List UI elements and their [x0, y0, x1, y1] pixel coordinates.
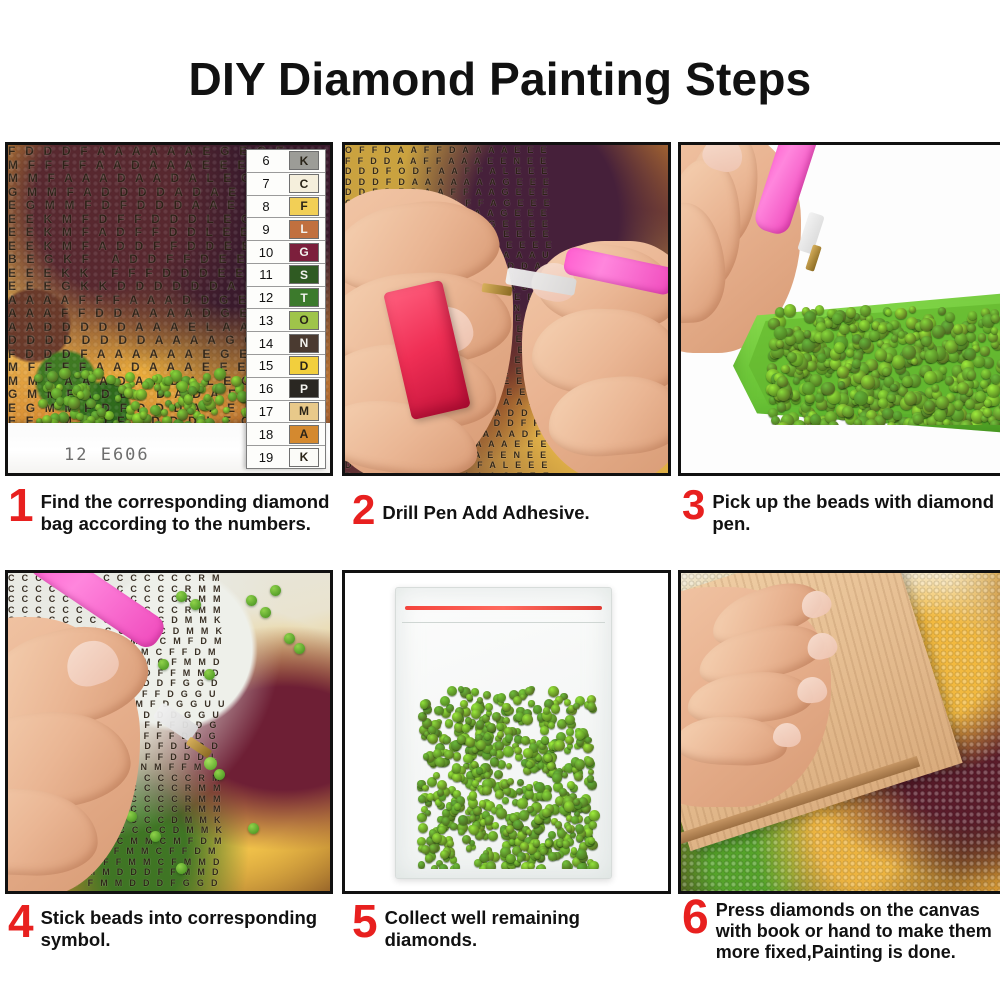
diamond-bead: [804, 330, 812, 338]
diamond-bead: [447, 840, 454, 847]
diamond-bead: [104, 411, 113, 420]
diamond-bead: [164, 391, 170, 397]
diamond-bead: [450, 823, 458, 831]
diamond-bead: [551, 704, 560, 713]
diamond-bead: [574, 772, 583, 781]
color-chart-row: 13O: [247, 309, 325, 332]
diamond-bead: [528, 863, 535, 869]
color-chart-row: 12T: [247, 287, 325, 310]
diamond-bead: [433, 772, 440, 779]
diamond-bead: [97, 408, 106, 417]
color-chart-symbol: T: [289, 288, 319, 307]
diamond-bead: [548, 852, 557, 861]
color-chart-symbol: F: [289, 197, 319, 216]
diamond-bead: [497, 693, 506, 702]
diamond-bead: [968, 311, 977, 320]
diamond-bead: [460, 700, 468, 708]
diamond-bead: [834, 342, 845, 353]
diamond-bead: [469, 825, 479, 835]
diamond-bead: [223, 407, 229, 413]
color-chart-number: 11: [247, 267, 285, 282]
diamond-bead: [484, 733, 491, 740]
diamond-bead: [566, 825, 573, 832]
diamond-bead: [846, 307, 857, 318]
diamond-bead: [882, 408, 894, 420]
diamond-bead: [506, 825, 514, 833]
diamond-bead: [548, 686, 559, 697]
diamond-bead: [482, 786, 492, 796]
diamond-bead: [485, 703, 494, 712]
diamond-bead: [514, 747, 521, 754]
diamond-bead: [517, 798, 528, 809]
step-text: Pick up the beads with diamond pen.: [712, 487, 1000, 535]
placed-bead: [248, 823, 259, 834]
step-5-caption: 5 Collect well remaining diamonds.: [352, 903, 672, 951]
diamond-bead: [506, 854, 515, 863]
diamond-bead: [913, 414, 923, 424]
step-number: 6: [682, 898, 709, 938]
diamond-bead: [805, 393, 815, 403]
diamond-bead: [924, 371, 937, 384]
diamond-bead: [525, 687, 534, 696]
diamond-bead: [534, 852, 541, 859]
diamond-bead: [839, 324, 850, 335]
step-number: 2: [352, 492, 375, 528]
diamond-bead: [429, 844, 438, 853]
diamond-bead: [936, 396, 949, 409]
bag-label-code: 12 E606: [64, 445, 150, 465]
diamond-bead: [420, 700, 429, 709]
diamond-bead: [447, 686, 458, 697]
diamond-bead: [505, 734, 514, 743]
beads-in-tray: [743, 299, 1000, 425]
placed-bead: [150, 831, 161, 842]
diamond-bead: [431, 865, 438, 869]
placed-bead: [214, 769, 225, 780]
diamond-bead: [566, 728, 574, 736]
diamond-bead: [452, 773, 462, 783]
diamond-bead: [458, 829, 465, 836]
diamond-bead: [503, 746, 514, 757]
step-text: Drill Pen Add Adhesive.: [382, 492, 589, 524]
step-1-image: F D D D F A A A A A A E G E G E M F F F …: [5, 142, 333, 476]
diamond-bead: [188, 386, 197, 395]
diamond-bead: [552, 773, 562, 783]
diamond-bead: [472, 780, 479, 787]
diamond-bead: [583, 743, 593, 753]
diamond-bead: [573, 703, 580, 710]
step-2-image: O F F D A A F F D A A A A E E E F F D D …: [342, 142, 671, 476]
diamond-bead: [466, 845, 473, 852]
placed-bead: [158, 659, 169, 670]
color-chart-row: 19K: [247, 446, 325, 468]
diamond-bead: [890, 384, 898, 392]
diamond-bead: [943, 419, 950, 425]
diamond-bead: [932, 325, 945, 338]
step-text: Stick beads into corresponding symbol.: [41, 903, 333, 951]
diamond-bead: [545, 840, 552, 847]
diamond-bead: [487, 723, 496, 732]
color-chart-symbol: N: [289, 334, 319, 353]
color-chart-symbol: K: [289, 151, 319, 170]
diamond-bead: [562, 772, 568, 778]
diamond-bead: [507, 778, 515, 786]
color-chart-row: 6K: [247, 150, 325, 173]
color-chart-row: 14N: [247, 332, 325, 355]
diamond-bead: [214, 368, 226, 380]
diamond-bead: [517, 779, 525, 787]
diamond-bead: [526, 761, 533, 768]
diamond-bead: [506, 763, 512, 769]
zip-seal-line: [402, 622, 604, 623]
diamond-bead: [164, 376, 174, 386]
diamond-bead: [575, 824, 584, 833]
diamond-bead: [56, 397, 64, 405]
diamond-bead: [462, 724, 471, 733]
diamond-bead: [978, 333, 986, 341]
diamond-bead: [517, 856, 523, 862]
diamond-bead: [484, 772, 491, 779]
diamond-bead: [991, 327, 998, 334]
step-3-caption: 3 Pick up the beads with diamond pen.: [682, 487, 1000, 535]
diamond-bead: [875, 349, 887, 361]
diamond-bead: [443, 736, 451, 744]
diamond-bead: [88, 374, 96, 382]
diamond-bead: [909, 306, 916, 313]
diamond-bead: [860, 305, 871, 316]
diamond-bead: [177, 381, 188, 392]
diamond-bead: [793, 377, 800, 384]
diamond-bead: [571, 847, 578, 854]
diamond-bead: [544, 754, 552, 762]
color-chart-symbol: A: [289, 425, 319, 444]
diamond-bead: [777, 402, 786, 411]
diamond-bead: [902, 345, 916, 359]
diamond-bead: [887, 422, 896, 425]
diamond-bead: [496, 723, 503, 730]
diamond-bead: [570, 832, 576, 838]
diamond-bead: [161, 409, 167, 415]
diamond-bead: [231, 376, 241, 386]
diamond-bead: [427, 793, 434, 800]
diamond-bead: [454, 803, 461, 810]
color-chart-symbol: C: [289, 174, 319, 193]
diamond-bead: [446, 804, 452, 810]
step-number: 3: [682, 487, 705, 523]
diamond-bead: [567, 781, 575, 789]
diamond-bead: [425, 854, 434, 863]
diamond-bead: [136, 389, 147, 400]
diamond-bead: [469, 791, 478, 800]
diamond-bead: [542, 791, 552, 801]
diamond-bead: [887, 394, 896, 403]
color-chart-row: 8F: [247, 196, 325, 219]
diamond-bead: [418, 795, 426, 803]
color-chart-symbol: G: [289, 243, 319, 262]
color-chart-number: 7: [247, 176, 285, 191]
diamond-bead: [519, 810, 529, 820]
diamond-bead: [476, 767, 483, 774]
diamond-bead: [562, 860, 572, 869]
diamond-bead: [59, 368, 71, 380]
diamond-bead: [554, 740, 565, 751]
diamond-bead: [496, 808, 507, 819]
color-chart-number: 15: [247, 358, 285, 373]
bead-on-pen-tip: [204, 757, 217, 770]
diamond-bead: [991, 374, 1000, 384]
diamond-bead: [777, 376, 788, 387]
diamond-bead: [502, 703, 511, 712]
step-number: 5: [352, 903, 378, 939]
diamond-bead: [466, 694, 472, 700]
diamond-bead: [967, 324, 976, 333]
diamond-bead: [925, 349, 939, 363]
diamond-bead: [817, 353, 826, 362]
diamond-bead: [47, 371, 58, 382]
diamond-bead: [980, 346, 990, 356]
diamond-bead: [434, 706, 444, 716]
placed-bead: [294, 643, 305, 654]
diamond-bead: [140, 411, 147, 418]
diamond-bead: [852, 359, 861, 368]
diamond-bead: [565, 715, 575, 725]
diamond-bead: [565, 736, 574, 745]
diamond-bead: [878, 324, 887, 333]
diamond-bead: [440, 850, 449, 859]
diamond-bead: [964, 348, 976, 360]
diamond-bead: [537, 864, 546, 870]
diamond-bead: [418, 823, 429, 834]
diamond-bead: [502, 797, 509, 804]
diamond-bead: [228, 392, 237, 401]
diamond-bead: [425, 810, 431, 816]
diamond-bead: [477, 697, 483, 703]
diamond-bead: [150, 405, 160, 415]
diamond-bead: [34, 374, 43, 383]
diamond-bead: [488, 831, 498, 841]
color-chart-row: 16P: [247, 378, 325, 401]
step-1-caption: 1 Find the corresponding diamond bag acc…: [8, 487, 333, 535]
diamond-bead: [439, 864, 448, 869]
diamond-bead: [854, 419, 862, 425]
diamond-bead: [965, 399, 975, 409]
diamond-bead: [423, 753, 429, 759]
diamond-bead: [106, 375, 115, 384]
diamond-bead: [865, 419, 878, 425]
diamond-bead: [495, 741, 504, 750]
diamond-bead: [924, 400, 935, 411]
diamond-bead: [522, 714, 533, 725]
infographic-page: DIY Diamond Painting Steps F D D D F A A…: [0, 0, 1000, 1000]
color-chart-row: 11S: [247, 264, 325, 287]
diamond-bead: [821, 382, 835, 396]
step-3-image: [678, 142, 1000, 476]
placed-bead: [246, 595, 257, 606]
diamond-bead: [453, 863, 460, 869]
diamond-bead: [540, 726, 549, 735]
diamond-bead: [821, 330, 834, 343]
diamond-bead: [513, 696, 522, 705]
diamond-bead: [895, 308, 906, 319]
diamond-bead: [882, 367, 891, 376]
diamond-bead: [453, 752, 462, 761]
color-chart-row: 9L: [247, 218, 325, 241]
diamond-bead: [444, 750, 453, 759]
placed-bead: [176, 591, 187, 602]
color-chart-symbol: O: [289, 311, 319, 330]
diamond-bead: [458, 686, 464, 692]
diamond-bead: [77, 391, 85, 399]
diamond-bead: [576, 849, 586, 859]
color-chart-symbol: D: [289, 356, 319, 375]
color-chart-number: 19: [247, 450, 285, 465]
diamond-bead: [533, 839, 541, 847]
step-text: Find the corresponding diamond bag accor…: [41, 487, 333, 535]
diamond-bead: [804, 311, 816, 323]
diamond-bead: [494, 770, 503, 779]
color-chart-number: 13: [247, 313, 285, 328]
color-chart-number: 12: [247, 290, 285, 305]
diamond-bead: [859, 320, 870, 331]
diamond-bead: [542, 808, 551, 817]
diamond-bead: [492, 822, 499, 829]
diamond-bead: [452, 712, 462, 722]
color-chart-row: 18A: [247, 423, 325, 446]
diamond-bead: [849, 324, 857, 332]
diamond-bead: [525, 790, 534, 799]
color-chart-number: 8: [247, 199, 285, 214]
color-chart-number: 9: [247, 222, 285, 237]
green-diamonds-in-bag: [401, 677, 601, 869]
color-chart-symbol: K: [289, 448, 319, 467]
color-chart-number: 6: [247, 153, 285, 168]
diamond-bead: [861, 375, 875, 389]
diamond-bead: [516, 788, 523, 795]
color-chart-number: 17: [247, 404, 285, 419]
diamond-bead: [438, 826, 446, 834]
step-6-caption: 6 Press diamonds on the canvas with book…: [682, 898, 1000, 963]
diamond-bead: [893, 411, 902, 420]
diamond-bead: [452, 763, 462, 773]
diamond-bead: [859, 338, 871, 350]
step-4-image: C C C C C C C C C C C C C C R M C C C C …: [5, 570, 333, 894]
color-chart-number: 10: [247, 245, 285, 260]
diamond-bead: [74, 372, 80, 378]
diamond-bead: [476, 740, 486, 750]
diamond-bead: [115, 395, 122, 402]
color-chart-row: 7C: [247, 173, 325, 196]
diamond-bead: [462, 835, 471, 844]
diamond-bead: [991, 314, 1000, 323]
diamond-bead: [828, 421, 839, 425]
diamond-bead: [589, 810, 600, 821]
step-number: 4: [8, 903, 34, 939]
diamond-bead: [854, 391, 868, 405]
step-text: Press diamonds on the canvas with book o…: [716, 898, 1000, 963]
diamond-bead: [203, 373, 211, 381]
diamond-bead: [458, 815, 468, 825]
diamond-bead: [575, 759, 585, 769]
diamond-bead: [777, 388, 790, 401]
color-chart-symbol: P: [289, 379, 319, 398]
diamond-bead: [987, 384, 1000, 397]
diamond-bead: [187, 408, 193, 414]
diamond-bead: [577, 863, 586, 870]
diamond-bead: [215, 395, 225, 405]
diamond-bead: [588, 769, 594, 775]
diamond-bead: [589, 821, 598, 830]
diamond-bead: [457, 735, 466, 744]
diamond-bead: [86, 399, 96, 409]
diamond-bead: [589, 861, 599, 869]
diamond-bead: [832, 313, 843, 324]
diamond-bead: [815, 393, 824, 402]
diamond-bead: [967, 370, 976, 379]
diamond-bead: [585, 737, 592, 744]
diamond-bead: [442, 817, 450, 825]
diamond-bead: [215, 383, 226, 394]
diamond-bead: [585, 757, 594, 766]
diamond-bead: [557, 841, 563, 847]
diamond-bead: [588, 837, 595, 844]
page-title: DIY Diamond Painting Steps: [0, 52, 1000, 106]
color-chart-row: 10G: [247, 241, 325, 264]
color-chart-symbol: L: [289, 220, 319, 239]
step-text: Collect well remaining diamonds.: [385, 903, 672, 951]
color-chart-symbol: S: [289, 265, 319, 284]
color-chart-number: 18: [247, 427, 285, 442]
diamond-bead: [784, 304, 797, 317]
diamond-bead: [945, 312, 956, 323]
zip-seal-strip: [405, 606, 603, 610]
diamond-bead: [587, 775, 593, 781]
diamond-bead: [902, 376, 913, 387]
diamond-bead: [169, 404, 176, 411]
diamond-bead: [45, 381, 53, 389]
diamond-bead: [38, 399, 48, 409]
diamond-bead: [465, 737, 475, 747]
diamond-bead: [945, 376, 954, 385]
diamond-bead: [422, 785, 429, 792]
diamond-bead: [892, 355, 906, 369]
diamond-bead: [541, 736, 549, 744]
placed-bead: [176, 863, 187, 874]
color-chart-row: 15D: [247, 355, 325, 378]
diamond-bead: [483, 691, 491, 699]
placed-bead: [270, 585, 281, 596]
color-chart-number: 16: [247, 381, 285, 396]
color-chart-number: 14: [247, 336, 285, 351]
diamond-bead: [534, 782, 544, 792]
diamond-bead: [842, 406, 854, 418]
diamond-bead: [990, 420, 999, 425]
placed-bead: [260, 607, 271, 618]
diamond-bead: [177, 409, 188, 420]
placed-bead: [204, 669, 215, 680]
diamond-bead: [521, 736, 530, 745]
diamond-bead: [885, 309, 892, 316]
diamond-bead: [934, 409, 946, 421]
step-6-image: [678, 570, 1000, 894]
step-number: 1: [8, 487, 34, 523]
step-4-caption: 4 Stick beads into corresponding symbol.: [8, 903, 333, 951]
color-chart-row: 17M: [247, 401, 325, 424]
diamond-bead: [486, 861, 496, 869]
placed-bead: [284, 633, 295, 644]
step-2-caption: 2 Drill Pen Add Adhesive.: [352, 492, 672, 528]
diamond-bead: [905, 333, 916, 344]
diamond-bead: [548, 722, 555, 729]
